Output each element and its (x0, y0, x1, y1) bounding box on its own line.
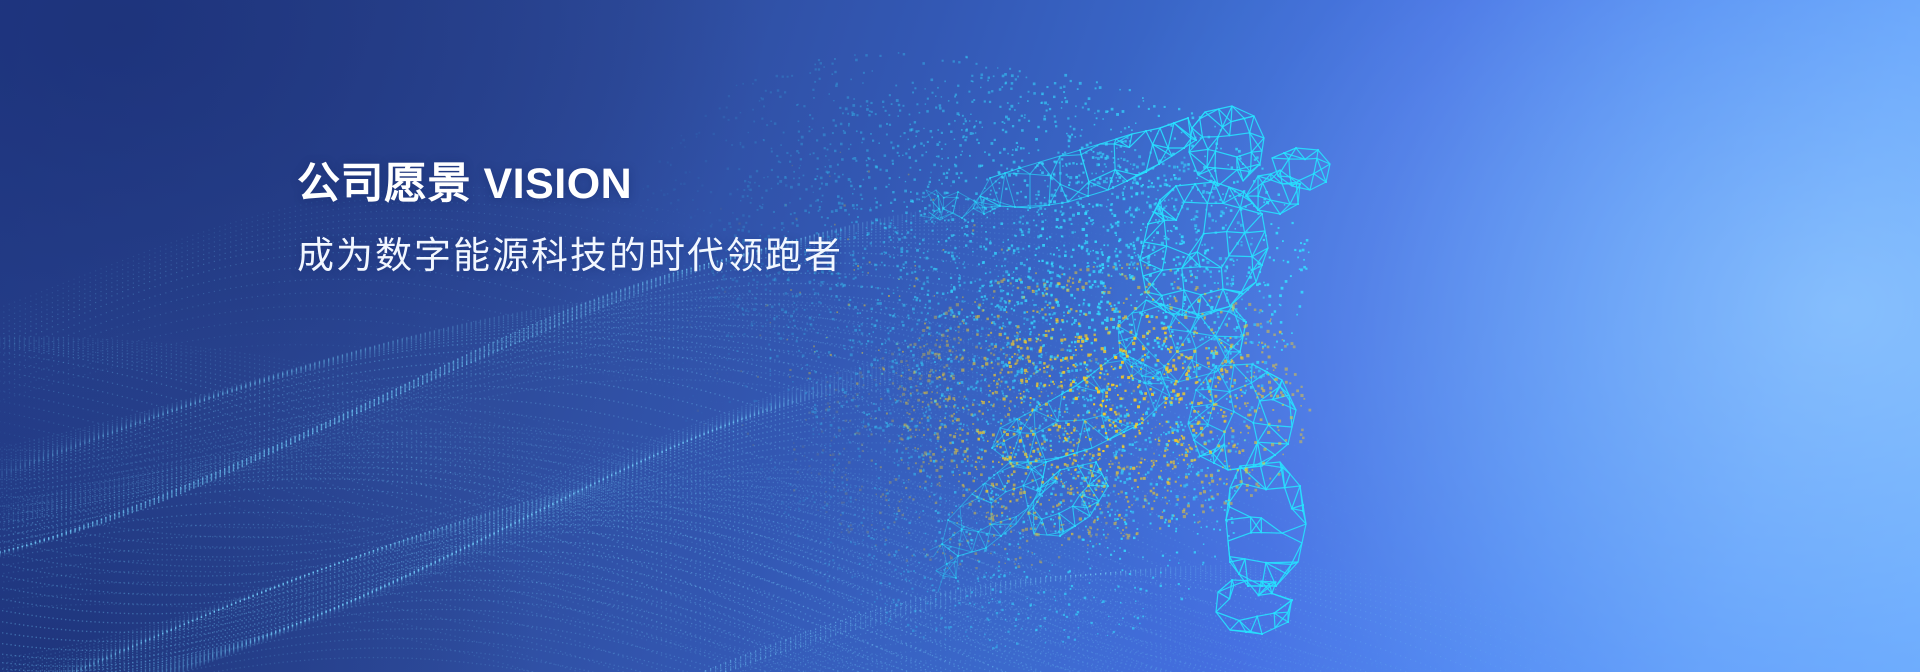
page-subtitle: 成为数字能源科技的时代领跑者 (297, 234, 1057, 278)
background-glow-right (0, 0, 1920, 672)
headline-block: 公司愿景 VISION 成为数字能源科技的时代领跑者 (297, 160, 1057, 279)
vision-banner: 公司愿景 VISION 成为数字能源科技的时代领跑者 (0, 0, 1920, 672)
page-title: 公司愿景 VISION (297, 160, 1057, 208)
